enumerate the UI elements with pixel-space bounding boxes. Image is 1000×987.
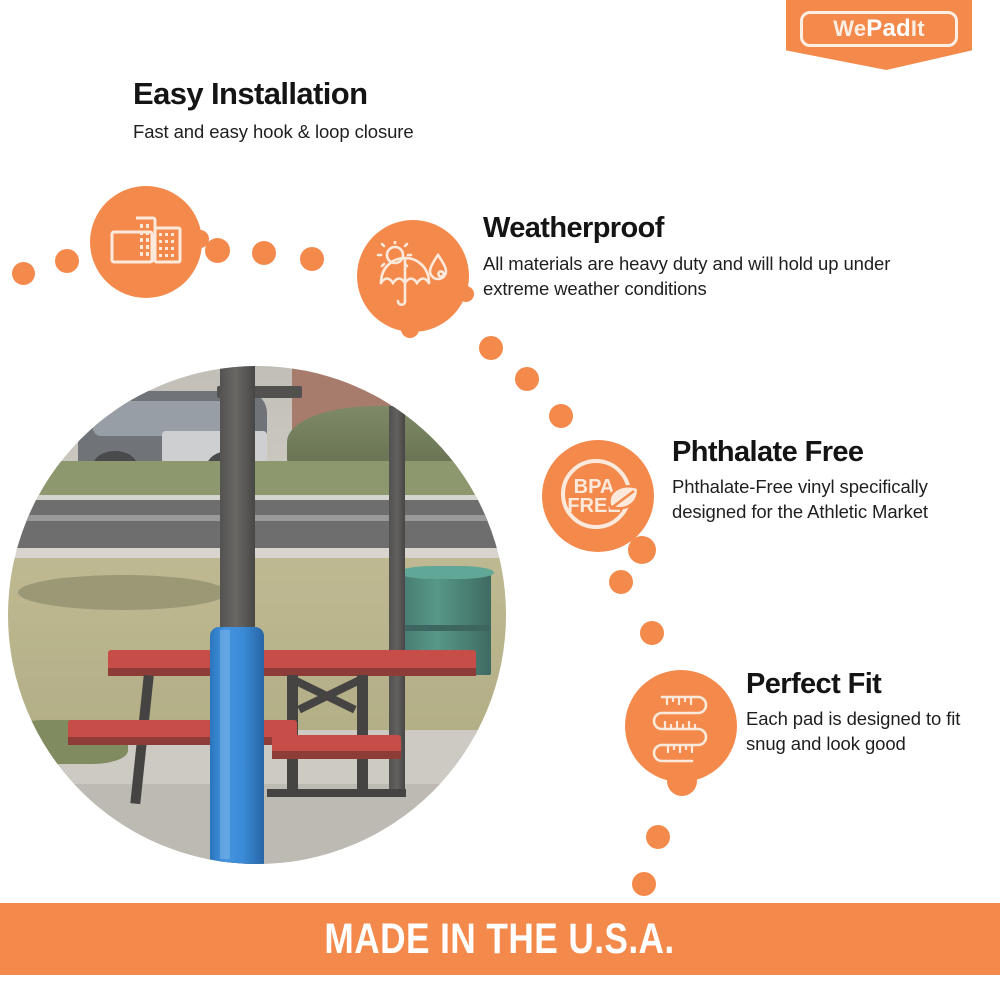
circle-nub: [191, 230, 209, 248]
logo-wordmark: WePadIt: [833, 17, 924, 41]
product-photo: [8, 366, 506, 864]
feature-block-weatherproof: Weatherproof All materials are heavy dut…: [483, 213, 913, 301]
feature-description: Each pad is designed to fit snug and loo…: [746, 707, 986, 756]
phthalate-free-icon-circle: BPA FREE: [542, 440, 654, 552]
logo-pad-text: Pad: [866, 15, 911, 42]
path-dot: [479, 336, 503, 360]
path-dot: [640, 621, 664, 645]
feature-description: Fast and easy hook & loop closure: [133, 120, 603, 144]
path-dot: [55, 249, 79, 273]
feature-block-phthalate-free: Phthalate Free Phthalate-Free vinyl spec…: [672, 437, 982, 524]
circle-nub: [401, 320, 419, 338]
feature-block-perfect-fit: Perfect Fit Each pad is designed to fit …: [746, 669, 986, 756]
logo-it-text: It: [911, 16, 925, 41]
path-dot: [646, 825, 670, 849]
hook-and-loop-strap-icon: [110, 214, 182, 270]
path-dot: [300, 247, 324, 271]
made-in-usa-banner: MADE IN THE U.S.A.: [0, 903, 1000, 975]
feature-title: Phthalate Free: [672, 437, 982, 467]
path-dot: [632, 872, 656, 896]
perfect-fit-icon-circle: [625, 670, 737, 782]
feature-title: Perfect Fit: [746, 669, 986, 699]
path-dot: [515, 367, 539, 391]
logo-we-text: We: [833, 16, 866, 41]
easy-installation-icon-circle: [90, 186, 202, 298]
photo-overlay: [8, 366, 506, 864]
path-dot: [609, 570, 633, 594]
feature-block-easy-installation: Easy Installation Fast and easy hook & l…: [133, 78, 603, 144]
umbrella-sun-rain-icon: [375, 241, 451, 311]
weatherproof-icon-circle: [357, 220, 469, 332]
path-dot: [12, 262, 35, 285]
circle-nub: [458, 286, 474, 302]
feature-description: Phthalate-Free vinyl specifically design…: [672, 475, 982, 524]
path-dot: [549, 404, 573, 428]
feature-title: Easy Installation: [133, 78, 603, 111]
logo-outline-box: WePadIt: [800, 11, 958, 47]
made-in-usa-text: MADE IN THE U.S.A.: [325, 915, 675, 964]
feature-description: All materials are heavy duty and will ho…: [483, 252, 913, 301]
brand-logo[interactable]: WePadIt: [786, 0, 972, 70]
circle-nub: [667, 766, 697, 796]
path-dot: [252, 241, 276, 265]
feature-title: Weatherproof: [483, 213, 913, 243]
path-dot: [205, 238, 230, 263]
bpa-free-leaf-icon: BPA FREE: [552, 452, 644, 540]
tape-measure-icon: [642, 687, 720, 765]
product-feature-infographic: WePadIt: [0, 0, 1000, 987]
circle-nub: [628, 536, 656, 564]
